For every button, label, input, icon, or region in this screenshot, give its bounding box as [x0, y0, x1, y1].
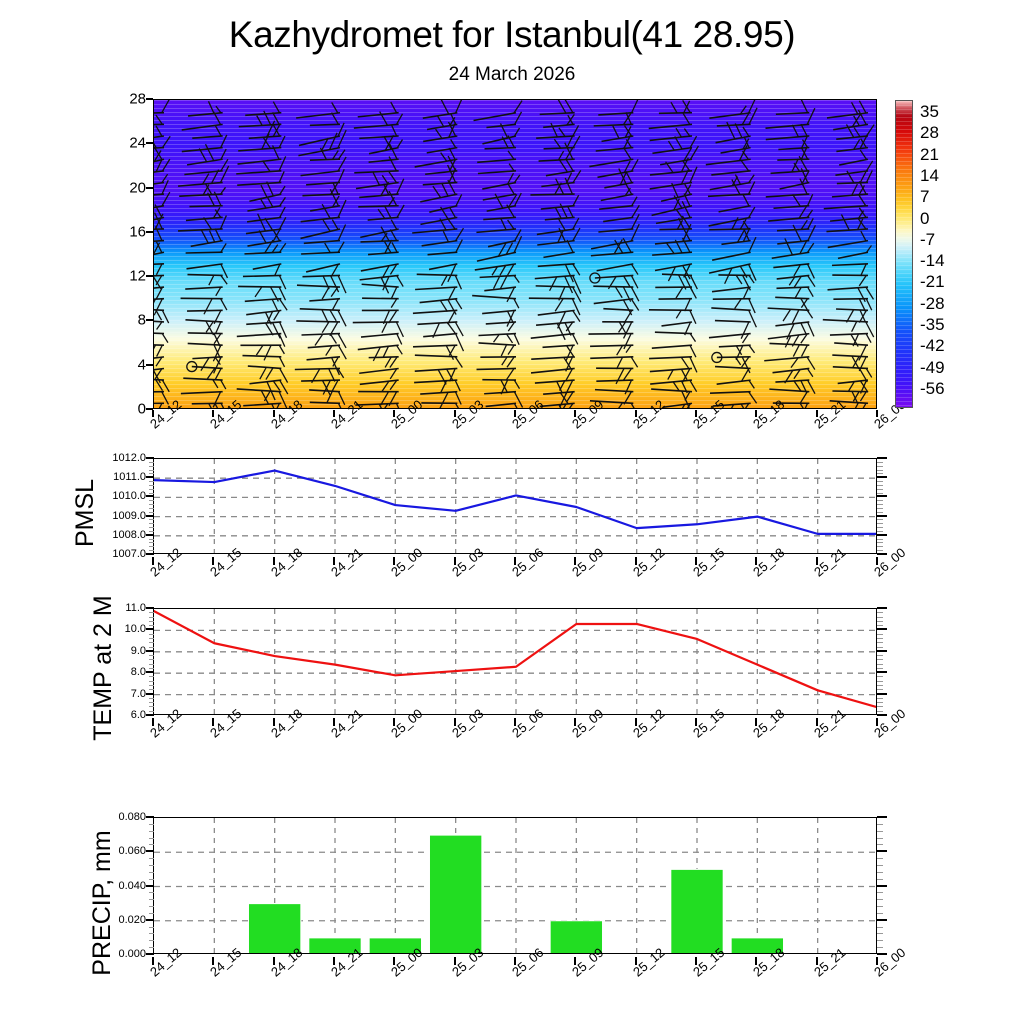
wind-barb-shaft	[659, 113, 692, 114]
cross-section-y-tick-label: 0	[138, 401, 146, 418]
temp-y-minor-tickmark	[149, 689, 154, 690]
precip-canvas	[154, 818, 877, 954]
wind-barb-shaft	[358, 206, 398, 207]
wind-barb-shaft	[353, 322, 399, 323]
precip-bar	[369, 938, 421, 954]
pmsl-y-minor-tickmark	[149, 493, 154, 494]
pmsl-right-tickmarks	[877, 458, 887, 554]
precip-y-minor-tickmark	[149, 906, 154, 907]
temp-x-tickmark	[695, 718, 697, 726]
wind-barb-shaft	[186, 252, 223, 253]
wind-barb-shaft	[530, 194, 574, 195]
temp-y-tickmark	[146, 628, 154, 630]
precip-right-tickmark	[877, 953, 887, 955]
temp-right-minor-tickmark	[877, 668, 883, 669]
temp-y-minor-tickmark	[149, 625, 154, 626]
temp-y-minor-tickmark	[149, 702, 154, 703]
pmsl-y-minor-tickmark	[149, 527, 154, 528]
wind-barb-shaft	[188, 333, 223, 334]
temp-right-minor-tickmark	[877, 659, 883, 660]
precip-x-axis: 24_1224_1524_1824_2125_0025_0325_0625_09…	[153, 958, 877, 1002]
pmsl-right-tickmark	[877, 553, 887, 555]
temp-x-tickmark	[876, 718, 878, 726]
colorbar-tick-label: -14	[920, 251, 945, 271]
cross-section-x-tickmark	[152, 410, 154, 417]
temp-right-minor-tickmark	[877, 676, 883, 677]
pmsl-y-axis: 1007.01008.01009.01010.01011.01012.0	[98, 458, 146, 554]
temp-y-minor-tickmark	[149, 706, 154, 707]
temp-x-tick-label: 25_09	[569, 706, 606, 741]
colorbar-tick-label: -56	[920, 379, 945, 399]
precip-right-minor-tickmark	[877, 865, 883, 866]
pmsl-right-tickmark	[877, 495, 887, 497]
precip-y-minor-tickmark	[149, 892, 154, 893]
precip-bar	[248, 904, 300, 954]
pmsl-x-axis: 24_1224_1524_1824_2125_0025_0325_0625_09…	[153, 558, 877, 602]
wind-barb-shaft	[837, 182, 868, 183]
precip-x-tick-label: 25_09	[569, 945, 606, 980]
temp-right-minor-tickmark	[877, 647, 883, 648]
wind-barb-shaft	[189, 206, 222, 207]
pmsl-y-tickmark	[146, 476, 154, 478]
precip-right-minor-tickmark	[877, 906, 883, 907]
precip-y-minor-tickmark	[149, 831, 154, 832]
precip-y-tickmark	[146, 816, 154, 818]
pmsl-x-tickmark	[755, 557, 757, 565]
temp-axis-label: TEMP at 2 M	[89, 573, 115, 763]
temp-right-minor-tickmark	[877, 621, 883, 622]
cross-section-x-tickmark	[514, 410, 516, 417]
temp-x-tick-label: 25_21	[811, 706, 848, 741]
precip-right-minor-tickmark	[877, 947, 883, 948]
temp-y-tickmark	[146, 693, 154, 695]
temp-x-tick-label: 25_00	[388, 706, 425, 741]
temp-y-minor-tickmark	[149, 612, 154, 613]
temp-y-minor-tickmark	[149, 711, 154, 712]
temp-x-tickmark	[454, 718, 456, 726]
pmsl-right-tickmark	[877, 515, 887, 517]
temp-x-tickmark	[273, 718, 275, 726]
precip-y-minor-tickmark	[149, 872, 154, 873]
wind-barb-shaft	[596, 380, 633, 381]
wind-barb-shaft	[593, 286, 633, 287]
precip-y-tick-label: 0.060	[118, 845, 146, 857]
colorbar-tick-label: 7	[920, 187, 929, 207]
pmsl-y-minor-tickmark	[149, 546, 154, 547]
precip-right-minor-tickmark	[877, 933, 883, 934]
precip-x-tickmark	[816, 957, 818, 965]
pmsl-right-minor-tickmark	[877, 546, 883, 547]
temp-y-tickmark	[146, 671, 154, 673]
temp-y-axis: 6.07.08.09.010.011.0	[106, 608, 146, 715]
temp-right-tickmark	[877, 628, 887, 630]
temp-x-tick-label: 24_12	[147, 706, 184, 741]
cross-section-x-tickmark	[816, 410, 818, 417]
cross-section-canvas	[154, 100, 877, 409]
pmsl-right-minor-tickmark	[877, 473, 883, 474]
cross-section-x-tickmark	[876, 410, 878, 417]
colorbar-tick-label: -21	[920, 272, 945, 292]
temp-line	[154, 611, 877, 707]
cross-section-y-tick-label: 24	[129, 135, 146, 152]
precip-right-minor-tickmark	[877, 927, 883, 928]
pmsl-x-tickmark	[816, 557, 818, 565]
temp-right-minor-tickmark	[877, 655, 883, 656]
precip-axis-label: PRECIP, mm	[88, 788, 114, 1018]
temp-x-tick-label: 26_00	[871, 706, 908, 741]
precip-y-minor-tickmark	[149, 913, 154, 914]
temp-x-tickmark	[212, 718, 214, 726]
pmsl-y-tickmark	[146, 534, 154, 536]
cross-section-plot	[153, 99, 877, 409]
precip-y-tickmarks	[146, 817, 154, 954]
temp-right-minor-tickmark	[877, 711, 883, 712]
pmsl-y-tick-label: 1008.0	[112, 529, 146, 541]
temp-x-tickmark	[816, 718, 818, 726]
colorbar-tick-label: -35	[920, 315, 945, 335]
pmsl-x-tickmark	[273, 557, 275, 565]
temp-right-minor-tickmark	[877, 706, 883, 707]
pmsl-right-tickmark	[877, 476, 887, 478]
pmsl-right-minor-tickmark	[877, 504, 883, 505]
pmsl-right-minor-tickmark	[877, 481, 883, 482]
pmsl-right-minor-tickmark	[877, 500, 883, 501]
cross-section-x-tickmark	[273, 410, 275, 417]
pmsl-y-minor-tickmark	[149, 500, 154, 501]
temp-right-minor-tickmark	[877, 689, 883, 690]
pmsl-right-minor-tickmark	[877, 550, 883, 551]
pmsl-x-tick-label: 25_21	[811, 545, 848, 580]
cross-section-x-tickmark	[454, 410, 456, 417]
cross-section-y-tick-label: 4	[138, 356, 146, 373]
wind-barb-shaft	[187, 310, 223, 311]
temp-y-tickmark	[146, 714, 154, 716]
wind-barb-shaft	[529, 298, 575, 299]
pmsl-y-minor-tickmark	[149, 504, 154, 505]
precip-right-minor-tickmark	[877, 913, 883, 914]
pmsl-y-tick-label: 1011.0	[113, 471, 146, 483]
wind-barb-shaft	[243, 275, 281, 276]
pmsl-y-minor-tickmark	[149, 508, 154, 509]
cross-section-y-tick-label: 12	[129, 268, 146, 285]
pmsl-right-minor-tickmark	[877, 493, 883, 494]
precip-y-minor-tickmark	[149, 899, 154, 900]
temp-y-minor-tickmark	[149, 638, 154, 639]
cross-section-y-tickmark	[146, 98, 153, 100]
pmsl-x-tick-label: 24_18	[268, 545, 305, 580]
precip-right-minor-tickmark	[877, 858, 883, 859]
pmsl-y-tick-label: 1010.0	[112, 490, 146, 502]
pmsl-y-minor-tickmark	[149, 519, 154, 520]
pmsl-x-tick-label: 26_00	[871, 545, 908, 580]
pmsl-x-tick-label: 25_09	[569, 545, 606, 580]
temp-right-minor-tickmark	[877, 612, 883, 613]
temp-y-tickmarks	[146, 608, 154, 715]
precip-y-minor-tickmark	[149, 865, 154, 866]
precip-x-tickmark	[755, 957, 757, 965]
pmsl-right-tickmark	[877, 534, 887, 536]
temp-right-minor-tickmark	[877, 642, 883, 643]
pmsl-right-minor-tickmark	[877, 523, 883, 524]
precip-x-tickmark	[876, 957, 878, 965]
cross-section-y-tickmark	[146, 187, 153, 189]
pmsl-right-minor-tickmark	[877, 462, 883, 463]
pmsl-right-minor-tickmark	[877, 470, 883, 471]
wind-barb-shaft	[187, 275, 222, 276]
precip-y-tick-label: 0.020	[118, 914, 146, 926]
pmsl-y-minor-tickmark	[149, 539, 154, 540]
pmsl-y-tickmark	[146, 495, 154, 497]
pmsl-y-minor-tickmark	[149, 550, 154, 551]
temp-plot	[153, 608, 877, 715]
colorbar-tick-label: -49	[920, 358, 945, 378]
colorbar-tick-label: -7	[920, 230, 935, 250]
pmsl-line	[154, 471, 877, 534]
temp-y-tick-label: 10.0	[125, 623, 146, 635]
temp-x-tickmark	[574, 718, 576, 726]
precip-x-tickmark	[514, 957, 516, 965]
cross-section-x-axis: 24_1224_1524_1824_2125_0025_0325_0625_09…	[153, 412, 877, 460]
pmsl-right-minor-tickmark	[877, 512, 883, 513]
precip-right-minor-tickmark	[877, 899, 883, 900]
precip-bar	[671, 869, 723, 954]
colorbar-tick-label: 21	[920, 145, 939, 165]
cross-section-x-tickmark	[755, 410, 757, 417]
pmsl-right-minor-tickmark	[877, 485, 883, 486]
pmsl-y-minor-tickmark	[149, 523, 154, 524]
precip-right-minor-tickmark	[877, 940, 883, 941]
pmsl-x-tick-label: 24_21	[328, 545, 365, 580]
precip-x-tickmark	[393, 957, 395, 965]
pmsl-axis-label: PMSL	[71, 453, 97, 573]
temp-right-minor-tickmark	[877, 617, 883, 618]
precip-bar	[731, 938, 783, 954]
pmsl-right-minor-tickmark	[877, 531, 883, 532]
pmsl-y-minor-tickmark	[149, 470, 154, 471]
temp-x-tickmark	[514, 718, 516, 726]
pmsl-right-minor-tickmark	[877, 527, 883, 528]
precip-y-tickmark	[146, 953, 154, 955]
precip-x-tick-label: 24_15	[207, 945, 244, 980]
temp-right-tickmark	[877, 714, 887, 716]
temp-y-tick-label: 11.0	[125, 602, 146, 614]
pmsl-x-tickmark	[574, 557, 576, 565]
pmsl-y-minor-tickmark	[149, 462, 154, 463]
cross-section-panel: 0481216202428 24_1224_1524_1824_2125_002…	[0, 0, 1024, 460]
colorbar-bands	[896, 101, 912, 407]
pmsl-grid	[154, 459, 877, 554]
pmsl-y-minor-tickmark	[149, 512, 154, 513]
precip-right-tickmark	[877, 885, 887, 887]
cross-section-x-tickmark	[333, 410, 335, 417]
pmsl-x-tickmark	[212, 557, 214, 565]
temp-y-minor-tickmark	[149, 676, 154, 677]
pmsl-x-tickmark	[333, 557, 335, 565]
precip-x-tick-label: 25_15	[690, 945, 727, 980]
precip-x-tickmark	[273, 957, 275, 965]
temp-y-minor-tickmark	[149, 617, 154, 618]
pmsl-right-minor-tickmark	[877, 542, 883, 543]
temp-x-tick-label: 25_03	[449, 706, 486, 741]
precip-right-minor-tickmark	[877, 831, 883, 832]
temp-x-tickmark	[755, 718, 757, 726]
pmsl-canvas	[154, 459, 877, 554]
temp-grid	[154, 609, 877, 715]
precip-x-tick-label: 26_00	[871, 945, 908, 980]
pmsl-x-tickmark	[695, 557, 697, 565]
precip-y-minor-tickmark	[149, 824, 154, 825]
cross-section-y-tickmark	[146, 364, 153, 366]
pmsl-y-minor-tickmark	[149, 485, 154, 486]
wind-barb-shaft	[296, 321, 340, 322]
cross-section-x-tickmark	[695, 410, 697, 417]
temp-y-minor-tickmark	[149, 621, 154, 622]
pmsl-y-minor-tickmark	[149, 473, 154, 474]
pmsl-x-tickmark	[454, 557, 456, 565]
pmsl-right-minor-tickmark	[877, 466, 883, 467]
precip-right-minor-tickmark	[877, 892, 883, 893]
precip-grid	[154, 818, 877, 954]
temp-right-minor-tickmark	[877, 698, 883, 699]
temp-right-tickmarks	[877, 608, 887, 715]
precip-right-tickmark	[877, 919, 887, 921]
temp-x-tick-label: 24_18	[268, 706, 305, 741]
temp-x-tickmark	[333, 718, 335, 726]
precip-y-tick-label: 0.000	[118, 948, 146, 960]
pmsl-x-tick-label: 25_12	[630, 545, 667, 580]
precip-y-minor-tickmark	[149, 927, 154, 928]
pmsl-y-tickmarks	[146, 458, 154, 554]
precip-bar	[309, 938, 361, 954]
precip-y-tickmark	[146, 850, 154, 852]
precip-y-tickmark	[146, 919, 154, 921]
wind-barb-shaft	[659, 229, 692, 230]
temp-right-minor-tickmark	[877, 702, 883, 703]
pmsl-x-tick-label: 25_15	[690, 545, 727, 580]
pmsl-x-tickmark	[514, 557, 516, 565]
precip-right-tickmark	[877, 816, 887, 818]
temp-x-tickmark	[393, 718, 395, 726]
wind-barb-shaft	[709, 229, 750, 230]
pmsl-right-minor-tickmark	[877, 519, 883, 520]
temp-y-minor-tickmark	[149, 681, 154, 682]
cross-section-y-tickmark	[146, 408, 153, 410]
temp-right-tickmark	[877, 607, 887, 609]
precip-x-tick-label: 25_12	[630, 945, 667, 980]
pmsl-y-tick-label: 1009.0	[112, 510, 146, 522]
temp-x-tickmark	[635, 718, 637, 726]
colorbar-tick-label: 14	[920, 166, 939, 186]
wind-barb-shaft	[362, 298, 399, 299]
precip-right-minor-tickmark	[877, 879, 883, 880]
colorbar-tick-label: 0	[920, 209, 929, 229]
temp-right-minor-tickmark	[877, 634, 883, 635]
colorbar-tick-label: -28	[920, 294, 945, 314]
pmsl-x-tick-label: 25_00	[388, 545, 425, 580]
temp-y-minor-tickmark	[149, 647, 154, 648]
pmsl-x-tick-label: 24_12	[147, 545, 184, 580]
temp-y-tick-label: 7.0	[131, 688, 146, 700]
pmsl-x-tickmark	[635, 557, 637, 565]
precip-y-minor-tickmark	[149, 879, 154, 880]
temp-y-minor-tickmark	[149, 698, 154, 699]
temp-y-tickmark	[146, 607, 154, 609]
temp-right-minor-tickmark	[877, 638, 883, 639]
precip-x-tick-label: 24_18	[268, 945, 305, 980]
temp-y-minor-tickmark	[149, 685, 154, 686]
precip-x-tickmark	[333, 957, 335, 965]
temp-right-tickmark	[877, 693, 887, 695]
temp-x-tick-label: 24_15	[207, 706, 244, 741]
precip-right-minor-tickmark	[877, 844, 883, 845]
pmsl-right-minor-tickmark	[877, 539, 883, 540]
precip-x-tick-label: 25_03	[449, 945, 486, 980]
precip-y-tick-label: 0.080	[118, 811, 146, 823]
temp-y-tickmark	[146, 650, 154, 652]
temp-y-minor-tickmark	[149, 659, 154, 660]
cross-section-y-tickmark	[146, 142, 153, 144]
temp-x-tick-label: 25_15	[690, 706, 727, 741]
temp-y-minor-tickmark	[149, 642, 154, 643]
precip-x-tickmark	[574, 957, 576, 965]
temp-x-tick-label: 24_21	[328, 706, 365, 741]
precip-x-tick-label: 25_06	[509, 945, 546, 980]
precip-x-tick-label: 25_18	[750, 945, 787, 980]
precip-bar	[550, 921, 602, 954]
temp-y-minor-tickmark	[149, 634, 154, 635]
temp-right-minor-tickmark	[877, 681, 883, 682]
cross-section-y-tick-label: 16	[129, 223, 146, 240]
pmsl-x-tick-label: 25_18	[750, 545, 787, 580]
precip-plot	[153, 817, 877, 954]
temp-right-minor-tickmark	[877, 685, 883, 686]
colorbar-tick-label: -42	[920, 336, 945, 356]
precip-x-tickmark	[635, 957, 637, 965]
weather-forecast-figure: Kazhydromet for Istanbul(41 28.95) 24 Ma…	[0, 0, 1024, 1024]
wind-barb-shaft	[238, 286, 281, 287]
pmsl-x-tickmark	[393, 557, 395, 565]
precip-y-axis: 0.0000.0200.0400.0600.080	[98, 817, 146, 954]
cross-section-y-axis: 0481216202428	[100, 99, 146, 409]
precip-x-tick-label: 25_00	[388, 945, 425, 980]
precip-y-minor-tickmark	[149, 858, 154, 859]
wind-barb-shaft	[832, 391, 868, 392]
precip-x-tickmark	[695, 957, 697, 965]
temp-y-tick-label: 8.0	[131, 666, 146, 678]
temp-y-tick-label: 6.0	[131, 709, 146, 721]
precip-right-tickmarks	[877, 817, 887, 954]
temp-right-minor-tickmark	[877, 625, 883, 626]
wind-barb-shaft	[310, 159, 340, 160]
precip-y-minor-tickmark	[149, 844, 154, 845]
precip-x-tick-label: 24_21	[328, 945, 365, 980]
cross-section-x-tickmark	[393, 410, 395, 417]
cross-section-x-tickmark	[212, 410, 214, 417]
pmsl-right-minor-tickmark	[877, 489, 883, 490]
colorbar-labels: 3528211470-7-14-21-28-35-42-49-56	[920, 100, 1020, 408]
colorbar-tick-label: 28	[920, 123, 939, 143]
precip-x-tick-label: 25_21	[811, 945, 848, 980]
precip-y-minor-tickmark	[149, 940, 154, 941]
pmsl-y-tick-label: 1007.0	[112, 548, 146, 560]
precip-right-minor-tickmark	[877, 824, 883, 825]
precip-y-tick-label: 0.040	[118, 880, 146, 892]
temp-right-tickmark	[877, 671, 887, 673]
wind-barb-shaft	[477, 368, 516, 369]
precip-right-tickmark	[877, 850, 887, 852]
temp-x-axis: 24_1224_1524_1824_2125_0025_0325_0625_09…	[153, 719, 877, 763]
pmsl-x-tick-label: 25_06	[509, 545, 546, 580]
